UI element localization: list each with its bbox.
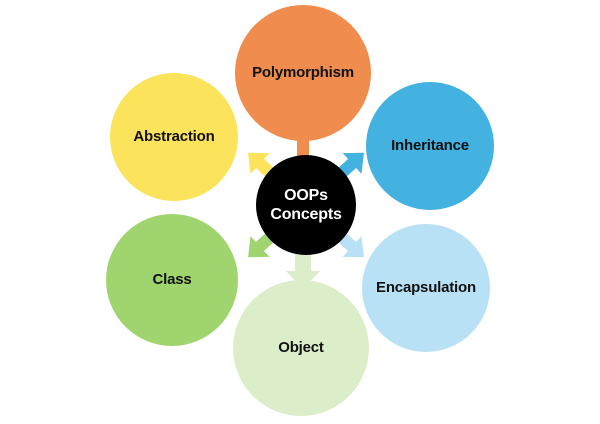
node-class-label: Class bbox=[152, 271, 191, 288]
node-object[interactable]: Object bbox=[233, 280, 369, 416]
node-inheritance[interactable]: Inheritance bbox=[366, 82, 494, 210]
node-encapsulation-label: Encapsulation bbox=[376, 279, 476, 296]
node-abstraction[interactable]: Abstraction bbox=[110, 73, 238, 201]
node-encapsulation[interactable]: Encapsulation bbox=[362, 224, 490, 352]
center-label-line1: OOPs bbox=[284, 187, 328, 204]
center-label-line2: Concepts bbox=[270, 206, 341, 223]
center-label: OOPs Concepts bbox=[270, 186, 341, 224]
node-oops-concepts-center[interactable]: OOPs Concepts bbox=[256, 155, 356, 255]
oops-concepts-diagram: Polymorphism Inheritance Encapsulation O… bbox=[0, 0, 600, 424]
node-polymorphism-label: Polymorphism bbox=[252, 64, 354, 81]
node-class[interactable]: Class bbox=[106, 214, 238, 346]
node-polymorphism[interactable]: Polymorphism bbox=[235, 5, 371, 141]
node-abstraction-label: Abstraction bbox=[133, 128, 214, 145]
node-inheritance-label: Inheritance bbox=[391, 137, 469, 154]
node-object-label: Object bbox=[278, 339, 323, 356]
